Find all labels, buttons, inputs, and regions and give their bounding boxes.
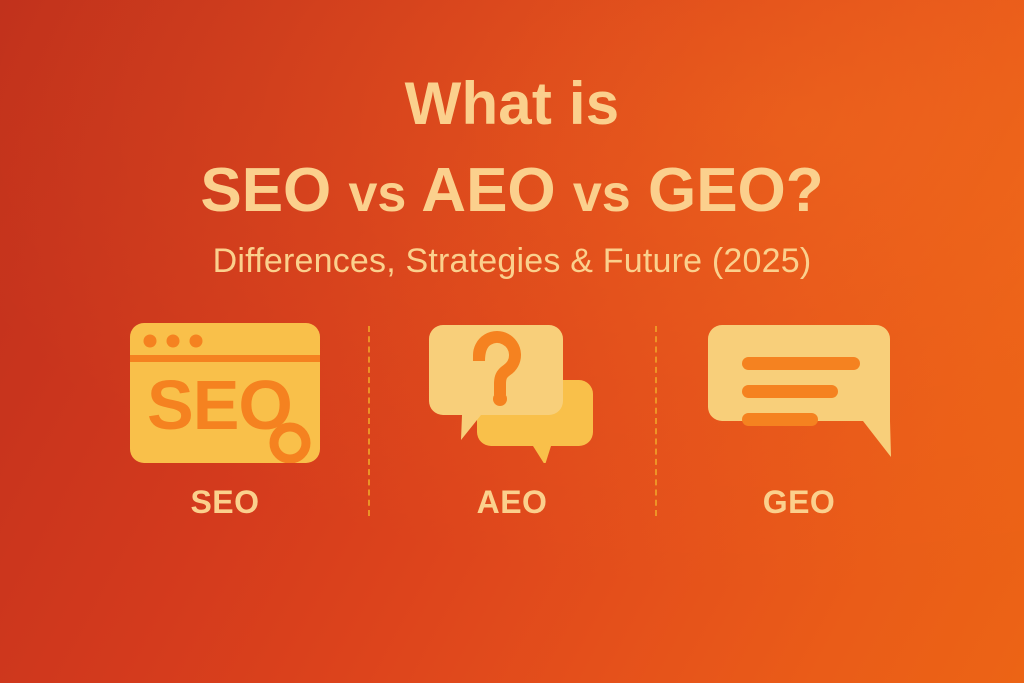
browser-window-seo-magnifier-icon: SEO <box>130 323 320 463</box>
page-title-line-1: What is <box>0 74 1024 134</box>
card-seo-label: SEO <box>190 484 259 521</box>
title-term-geo: GEO? <box>648 156 824 225</box>
poster-canvas: What is SEO vs AEO vs GEO? Differences, … <box>0 0 1024 683</box>
divider-aeo-geo <box>655 326 657 516</box>
card-aeo-label: AEO <box>477 484 548 521</box>
card-seo: SEO SEO <box>83 318 368 521</box>
page-title-line-2: SEO vs AEO vs GEO? <box>0 160 1024 222</box>
speech-bubbles-question-mark-icon <box>429 323 595 463</box>
card-seo-icon-box: SEO <box>130 318 320 468</box>
concept-cards-row: SEO SEO AEO <box>0 318 1024 521</box>
card-geo: GEO <box>657 318 942 521</box>
title-term-aeo: AEO <box>421 156 555 225</box>
divider-seo-aeo <box>368 326 370 516</box>
card-geo-icon-box <box>706 318 892 468</box>
card-geo-label: GEO <box>763 484 836 521</box>
title-vs-2: vs <box>573 165 631 223</box>
speech-bubble-text-lines-icon <box>706 323 892 463</box>
svg-text:SEO: SEO <box>147 366 292 444</box>
card-aeo-icon-box <box>429 318 595 468</box>
page-subtitle: Differences, Strategies & Future (2025) <box>0 242 1024 281</box>
title-vs-1: vs <box>349 165 407 223</box>
title-block: What is SEO vs AEO vs GEO? Differences, … <box>0 74 1024 281</box>
title-term-seo: SEO <box>200 156 331 225</box>
card-aeo: AEO <box>370 318 655 521</box>
